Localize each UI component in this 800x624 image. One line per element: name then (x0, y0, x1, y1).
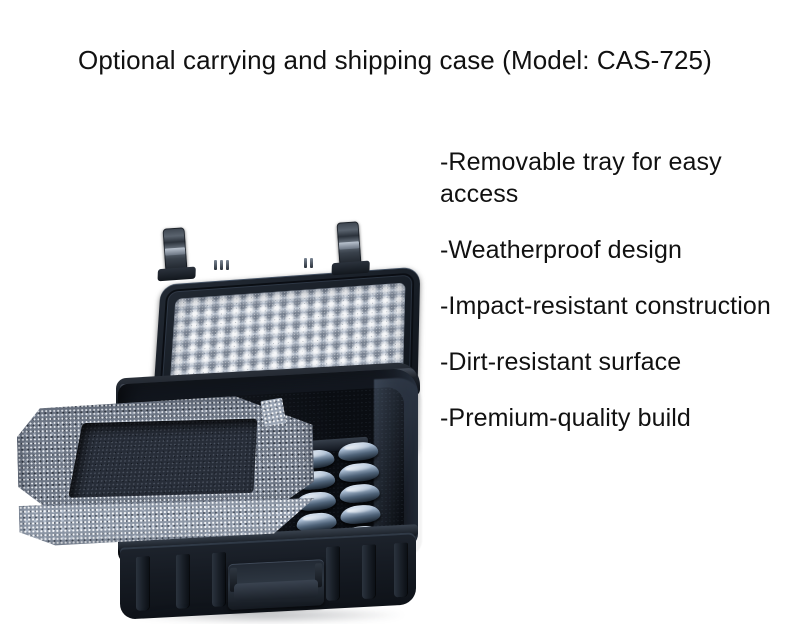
latch-left-band (165, 247, 185, 255)
lid-pin-3 (226, 260, 229, 270)
lid-pin-4 (304, 258, 307, 268)
front-rib (176, 554, 189, 609)
latch-left (162, 227, 187, 272)
page-root: Optional carrying and shipping case (Mod… (0, 0, 800, 569)
latch-left-foot (158, 267, 196, 282)
product-shadow (128, 606, 408, 624)
latch-right-band (339, 241, 359, 249)
cylinder (338, 441, 379, 462)
feature-item-dirt-resistant: -Dirt-resistant surface (440, 346, 790, 378)
page-title: Optional carrying and shipping case (Mod… (78, 44, 778, 76)
product-image (8, 108, 428, 553)
feature-item-removable-tray: -Removable tray for easy access (440, 146, 790, 210)
lid-pin-2 (220, 260, 223, 270)
tray-cavity (68, 419, 257, 498)
carry-handle (228, 559, 324, 610)
handle-grip (234, 579, 318, 601)
feature-list: -Removable tray for easy access -Weather… (440, 146, 790, 434)
lid-pin-5 (310, 258, 313, 268)
feature-item-impact-resistant: -Impact-resistant construction (440, 290, 790, 322)
front-rib (394, 543, 407, 598)
latch-right (336, 221, 361, 266)
cylinder (340, 504, 381, 525)
front-rib (212, 552, 225, 607)
tray-notch (260, 398, 286, 427)
front-rib (136, 556, 149, 611)
cylinder (339, 462, 380, 483)
feature-item-weatherproof: -Weatherproof design (440, 234, 790, 266)
cylinder (339, 483, 380, 504)
lid-pin-1 (214, 260, 217, 270)
front-rib (326, 546, 339, 601)
front-rib (362, 544, 375, 599)
tray-front-face (19, 498, 316, 550)
removable-foam-tray (16, 394, 316, 562)
feature-item-premium-quality: -Premium-quality build (440, 402, 790, 434)
